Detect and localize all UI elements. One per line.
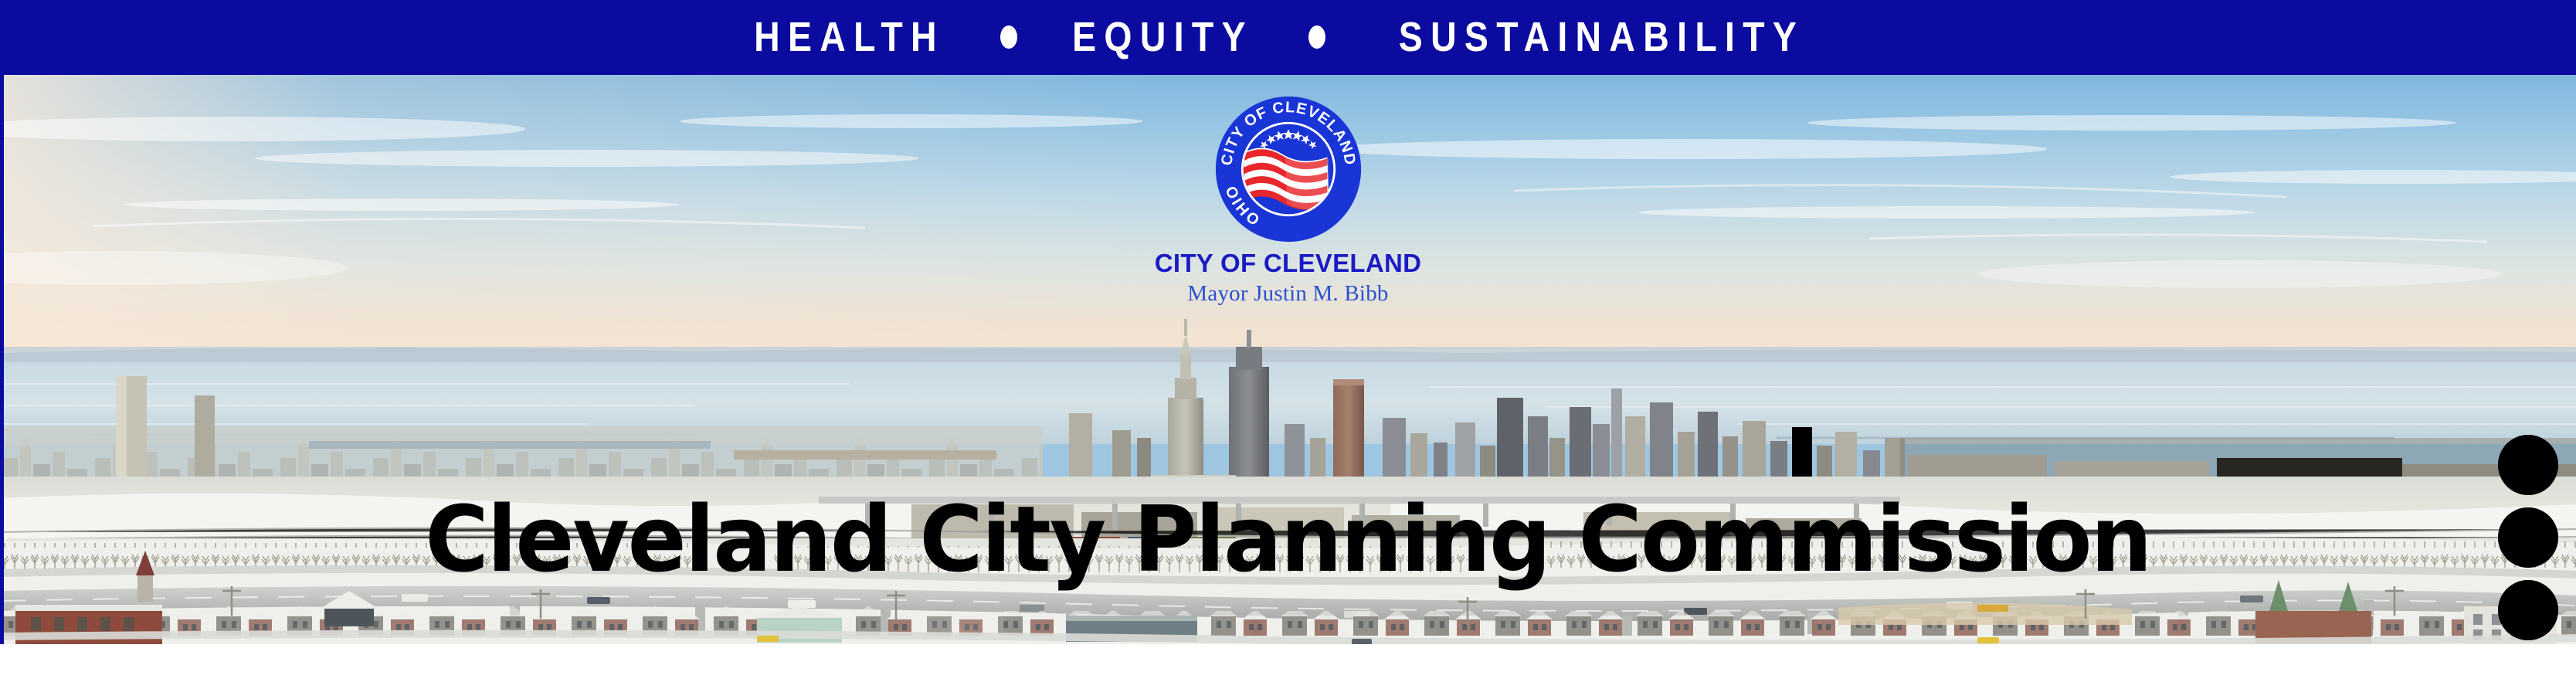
instagram-icon[interactable] xyxy=(2498,507,2558,568)
facebook-icon[interactable] xyxy=(2498,580,2558,640)
cleveland-aerial-winter-photo xyxy=(0,75,2576,644)
social-media-rail xyxy=(2497,435,2559,640)
hero-photo-region xyxy=(0,75,2576,644)
youtube-icon[interactable] xyxy=(2498,435,2558,495)
left-edge-accent-stripe xyxy=(0,75,4,644)
tagline-banner: HEALTH EQUITY SUSTAINABILITY xyxy=(0,0,2576,75)
bullet-dot-icon xyxy=(1000,25,1017,49)
tagline-word-equity: EQUITY xyxy=(1072,16,1254,58)
tagline-word-health: HEALTH xyxy=(754,16,945,58)
tagline-inner: HEALTH EQUITY SUSTAINABILITY xyxy=(738,16,1838,58)
tagline-word-sustainability: SUSTAINABILITY xyxy=(1399,16,1804,58)
bullet-dot-icon xyxy=(1308,25,1325,49)
cleveland-city-planning-commission-banner: HEALTH EQUITY SUSTAINABILITY xyxy=(0,0,2576,682)
